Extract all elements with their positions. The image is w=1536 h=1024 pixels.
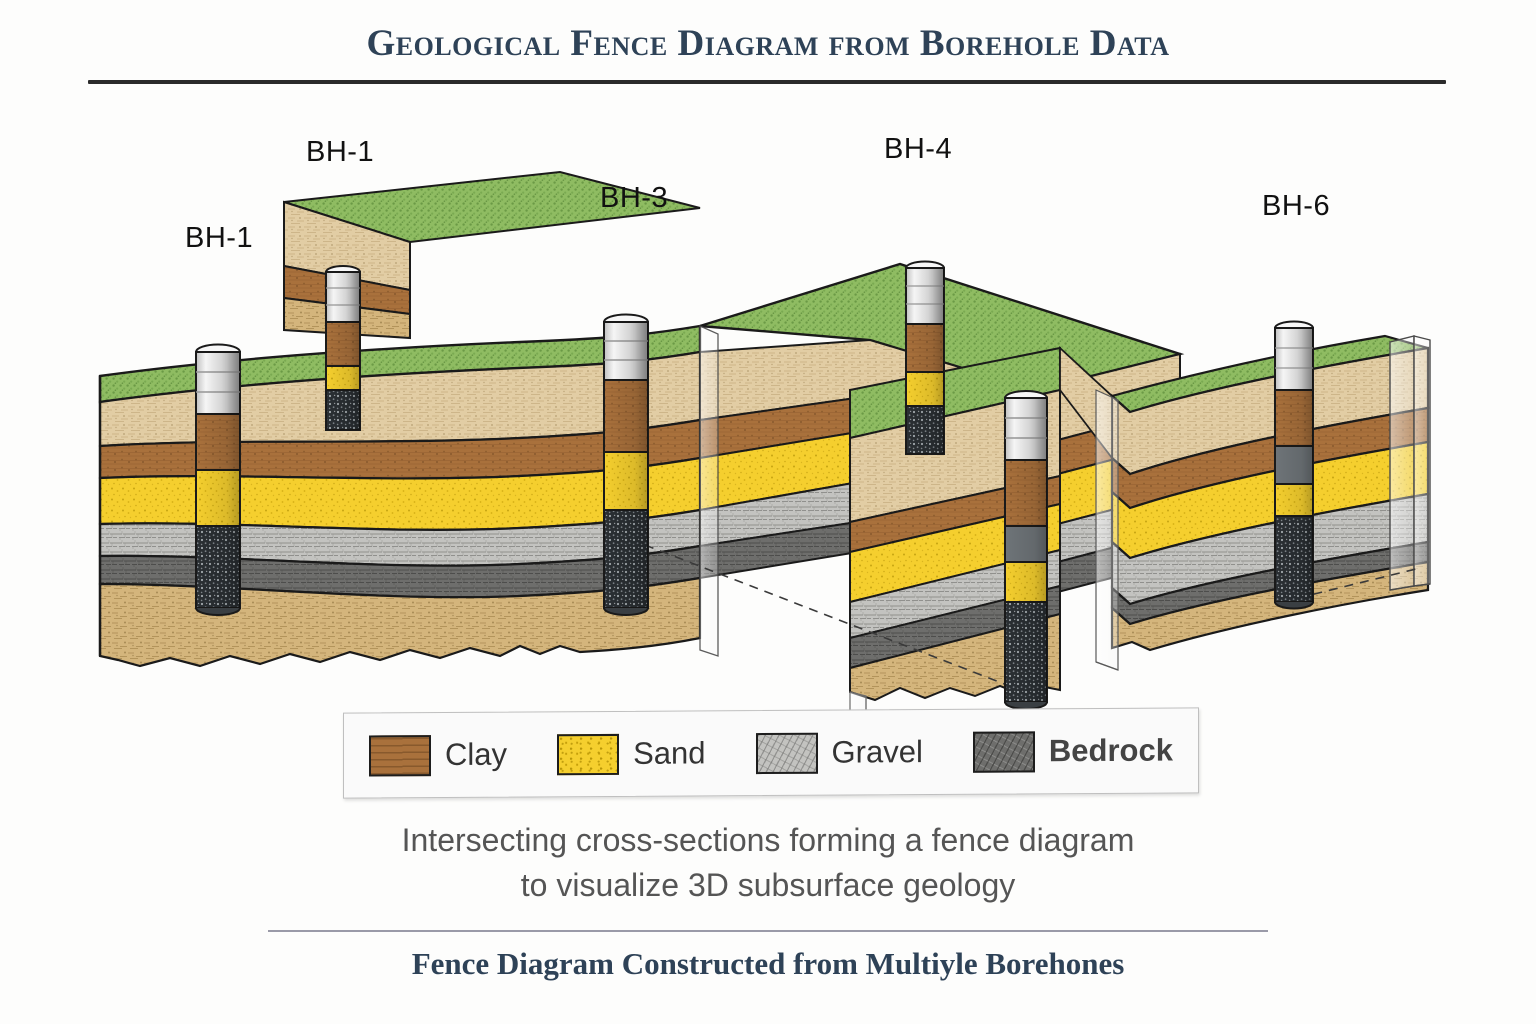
caption-line-2: to visualize 3D subsurface geology xyxy=(0,863,1536,908)
legend-swatch-gravel xyxy=(756,732,818,773)
borehole-core-bh-1-left[interactable] xyxy=(196,345,240,616)
caption-line-1: Intersecting cross-sections forming a fe… xyxy=(0,818,1536,863)
borehole-label-bh-1-left: BH-1 xyxy=(185,222,253,255)
borehole-core-bh-3[interactable] xyxy=(604,315,648,616)
legend-swatch-clay xyxy=(369,735,431,776)
borehole-core-bh-5[interactable] xyxy=(1005,391,1047,709)
page-title: Geological Fence Diagram from Borehole D… xyxy=(0,22,1536,65)
borehole-core-bh-4[interactable] xyxy=(906,262,944,455)
legend-swatch-sand xyxy=(557,733,619,774)
diagram-page: Geological Fence Diagram from Borehole D… xyxy=(0,0,1536,1024)
legend-label-gravel: Gravel xyxy=(832,734,923,771)
footer-title: Fence Diagram Constructed from Multiyle … xyxy=(0,946,1536,982)
legend-item-sand[interactable]: Sand xyxy=(557,733,705,775)
legend-item-gravel[interactable]: Gravel xyxy=(756,732,923,774)
borehole-label-bh-1-back: BH-1 xyxy=(306,136,374,169)
legend-label-sand: Sand xyxy=(633,735,705,771)
borehole-label-bh-4: BH-4 xyxy=(884,133,952,166)
fence-panel-far-right xyxy=(1112,336,1430,650)
legend-swatch-bedrock xyxy=(973,731,1035,772)
borehole-core-bh-1-back[interactable] xyxy=(326,266,360,430)
borehole-core-bh-6[interactable] xyxy=(1275,322,1313,609)
borehole-label-bh-3: BH-3 xyxy=(600,182,668,215)
legend-box: Clay Sand Gravel Bedrock xyxy=(343,707,1199,798)
legend-label-clay: Clay xyxy=(445,737,507,773)
caption: Intersecting cross-sections forming a fe… xyxy=(0,818,1536,909)
title-divider xyxy=(88,80,1446,84)
borehole-label-bh-6: BH-6 xyxy=(1262,190,1330,223)
legend-item-bedrock[interactable]: Bedrock xyxy=(973,730,1173,772)
footer-divider xyxy=(268,930,1268,932)
fence-diagram-illustration xyxy=(0,90,1536,710)
legend-label-bedrock: Bedrock xyxy=(1049,733,1173,770)
legend-item-clay[interactable]: Clay xyxy=(369,734,507,776)
